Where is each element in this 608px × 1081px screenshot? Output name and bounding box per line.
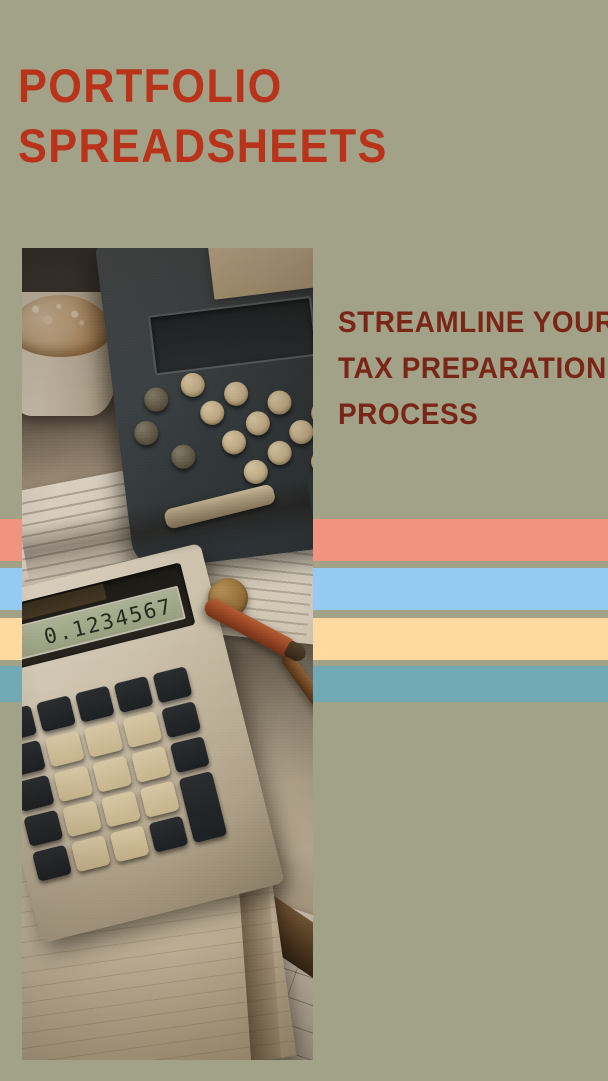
- typewriter-keyboard: [128, 359, 313, 565]
- calculator-key: [110, 825, 150, 862]
- typewriter-key: [266, 389, 293, 416]
- title-line-1: PORTFOLIO: [18, 56, 322, 116]
- typewriter-key: [310, 448, 313, 475]
- calculator-key: [161, 701, 201, 738]
- subheading-line-3: PROCESS: [338, 392, 578, 438]
- calculator-key: [71, 835, 111, 872]
- calculator-key: [140, 781, 180, 818]
- typewriter-key: [133, 420, 160, 447]
- calculator-key: [152, 666, 192, 703]
- calculator-key: [122, 711, 162, 748]
- typewriter-key: [221, 429, 248, 456]
- typewriter-front-panel: [148, 296, 313, 376]
- typewriter-key: [223, 380, 250, 407]
- typewriter-key: [288, 419, 313, 446]
- calculator-key: [23, 810, 63, 847]
- calculator-key: [22, 740, 46, 777]
- typewriter-key: [170, 443, 197, 470]
- calculator-key: [53, 765, 93, 802]
- calculator-keypad: [22, 636, 268, 929]
- calculator-key: [36, 695, 76, 732]
- subheading: STREAMLINE YOUR TAX PREPARATION PROCESS: [338, 300, 596, 438]
- page-title: PORTFOLIO SPREADSHEETS: [18, 56, 348, 176]
- calculator-key: [45, 730, 85, 767]
- hero-photo-scene: 0.1234567: [22, 248, 313, 1060]
- typewriter-key: [179, 372, 206, 399]
- calculator-key: [92, 755, 132, 792]
- typewriter-key: [266, 440, 293, 467]
- typewriter-key: [244, 410, 271, 437]
- calculator-key: [131, 746, 171, 783]
- calculator-key: [22, 705, 37, 742]
- calculator-key-plus: [178, 771, 227, 843]
- calculator-key: [22, 775, 55, 812]
- hero-photo: Vintage desk scene with a typewriter, a …: [22, 248, 313, 1060]
- coffee-cup: [22, 292, 116, 416]
- calculator-key: [83, 720, 123, 757]
- coffee-surface: [22, 295, 111, 357]
- typewriter-space-bar: [163, 483, 277, 530]
- typewriter-key: [310, 400, 313, 427]
- title-line-2: SPREADSHEETS: [18, 116, 322, 176]
- calculator-key: [32, 845, 72, 882]
- subheading-line-2: TAX PREPARATION: [338, 346, 578, 392]
- calculator-key: [101, 790, 141, 827]
- calculator-key: [114, 676, 154, 713]
- subheading-line-1: STREAMLINE YOUR: [338, 300, 578, 346]
- typewriter-paper: [200, 248, 313, 300]
- calculator-key: [75, 686, 115, 723]
- poster-canvas: PORTFOLIO SPREADSHEETS STREAMLINE YOUR T…: [0, 0, 608, 1081]
- calculator-key: [148, 816, 188, 853]
- typewriter-key: [199, 399, 226, 426]
- calculator-key: [62, 800, 102, 837]
- typewriter-key: [242, 459, 269, 486]
- typewriter-key: [143, 386, 170, 413]
- coffee-foam: [22, 299, 105, 335]
- calculator-key: [170, 736, 210, 773]
